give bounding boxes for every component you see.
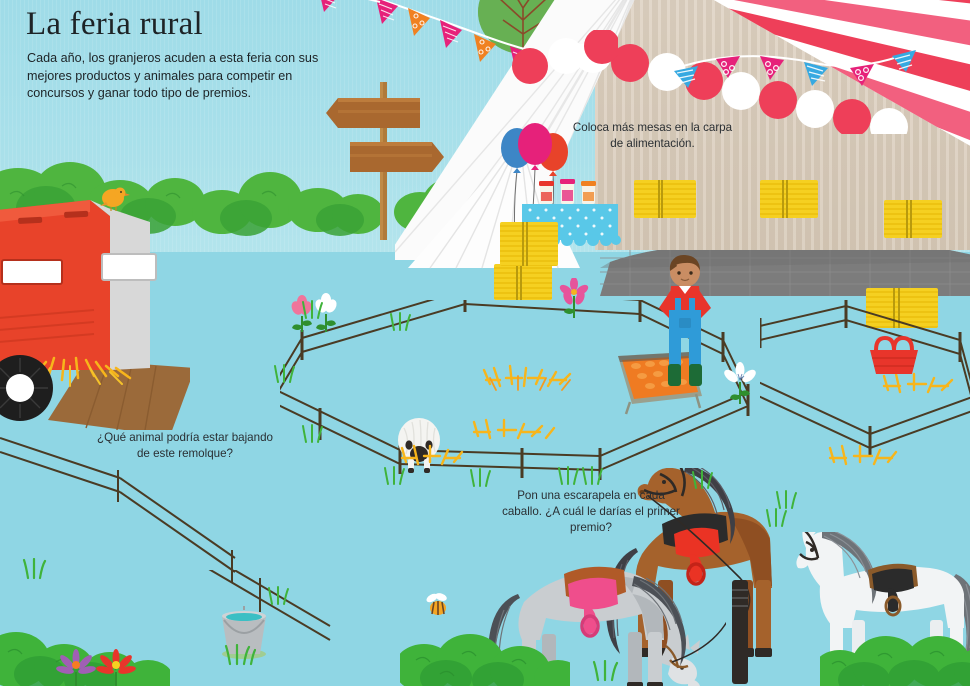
grass-tuft xyxy=(690,470,716,490)
straw-tuft xyxy=(480,360,580,396)
horse-trailer[interactable] xyxy=(0,190,190,430)
tent-note: Coloca más mesas en la carpa de alimenta… xyxy=(570,120,735,152)
bunting-left-tail xyxy=(300,0,390,28)
grass-tuft xyxy=(272,364,298,384)
bee xyxy=(420,590,454,618)
grass-tuft xyxy=(764,508,790,528)
grass-tuft xyxy=(388,312,414,332)
farmer[interactable] xyxy=(655,252,715,404)
bunting-right xyxy=(660,38,920,108)
hay-bale[interactable] xyxy=(760,180,818,218)
grass-tuft xyxy=(382,466,408,486)
horses-note: Pon una escarapela en cada caballo. ¿A c… xyxy=(500,488,682,536)
straw-tuft xyxy=(470,414,560,446)
grass-tuft xyxy=(224,644,256,666)
hay-bale[interactable] xyxy=(494,264,552,300)
grass-tuft xyxy=(774,490,800,510)
foreground-bush-center xyxy=(400,628,570,686)
trailer-note: ¿Qué animal podría estar bajando de este… xyxy=(95,430,275,462)
hay-bale[interactable] xyxy=(634,180,696,218)
grass-tuft xyxy=(22,558,48,580)
grass-tuft xyxy=(300,424,326,444)
hay-bale[interactable] xyxy=(884,200,942,238)
yellow-bird-icon xyxy=(96,184,130,212)
illustration-scene: La feria rural Cada año, los granjeros a… xyxy=(0,0,970,686)
straw-tuft xyxy=(826,440,902,472)
red-basket[interactable] xyxy=(868,336,920,378)
page-intro: Cada año, los granjeros acuden a esta fe… xyxy=(27,50,327,103)
foreground-bush-right xyxy=(820,626,970,686)
straw-tuft xyxy=(398,440,468,474)
page-title: La feria rural xyxy=(26,6,203,43)
tent-scallop-trim-top xyxy=(508,30,618,90)
grass-tuft xyxy=(592,660,622,682)
flowers-bottom-left xyxy=(54,646,164,686)
tether-post xyxy=(726,580,754,686)
hay-bale[interactable] xyxy=(500,222,558,266)
grass-tuft xyxy=(468,468,494,488)
grass-tuft xyxy=(300,300,326,320)
flower-pink xyxy=(556,278,596,320)
grass-tuft xyxy=(266,586,292,606)
grass-tuft xyxy=(556,466,582,486)
flower-white xyxy=(722,362,762,406)
grass-tuft xyxy=(580,466,606,486)
